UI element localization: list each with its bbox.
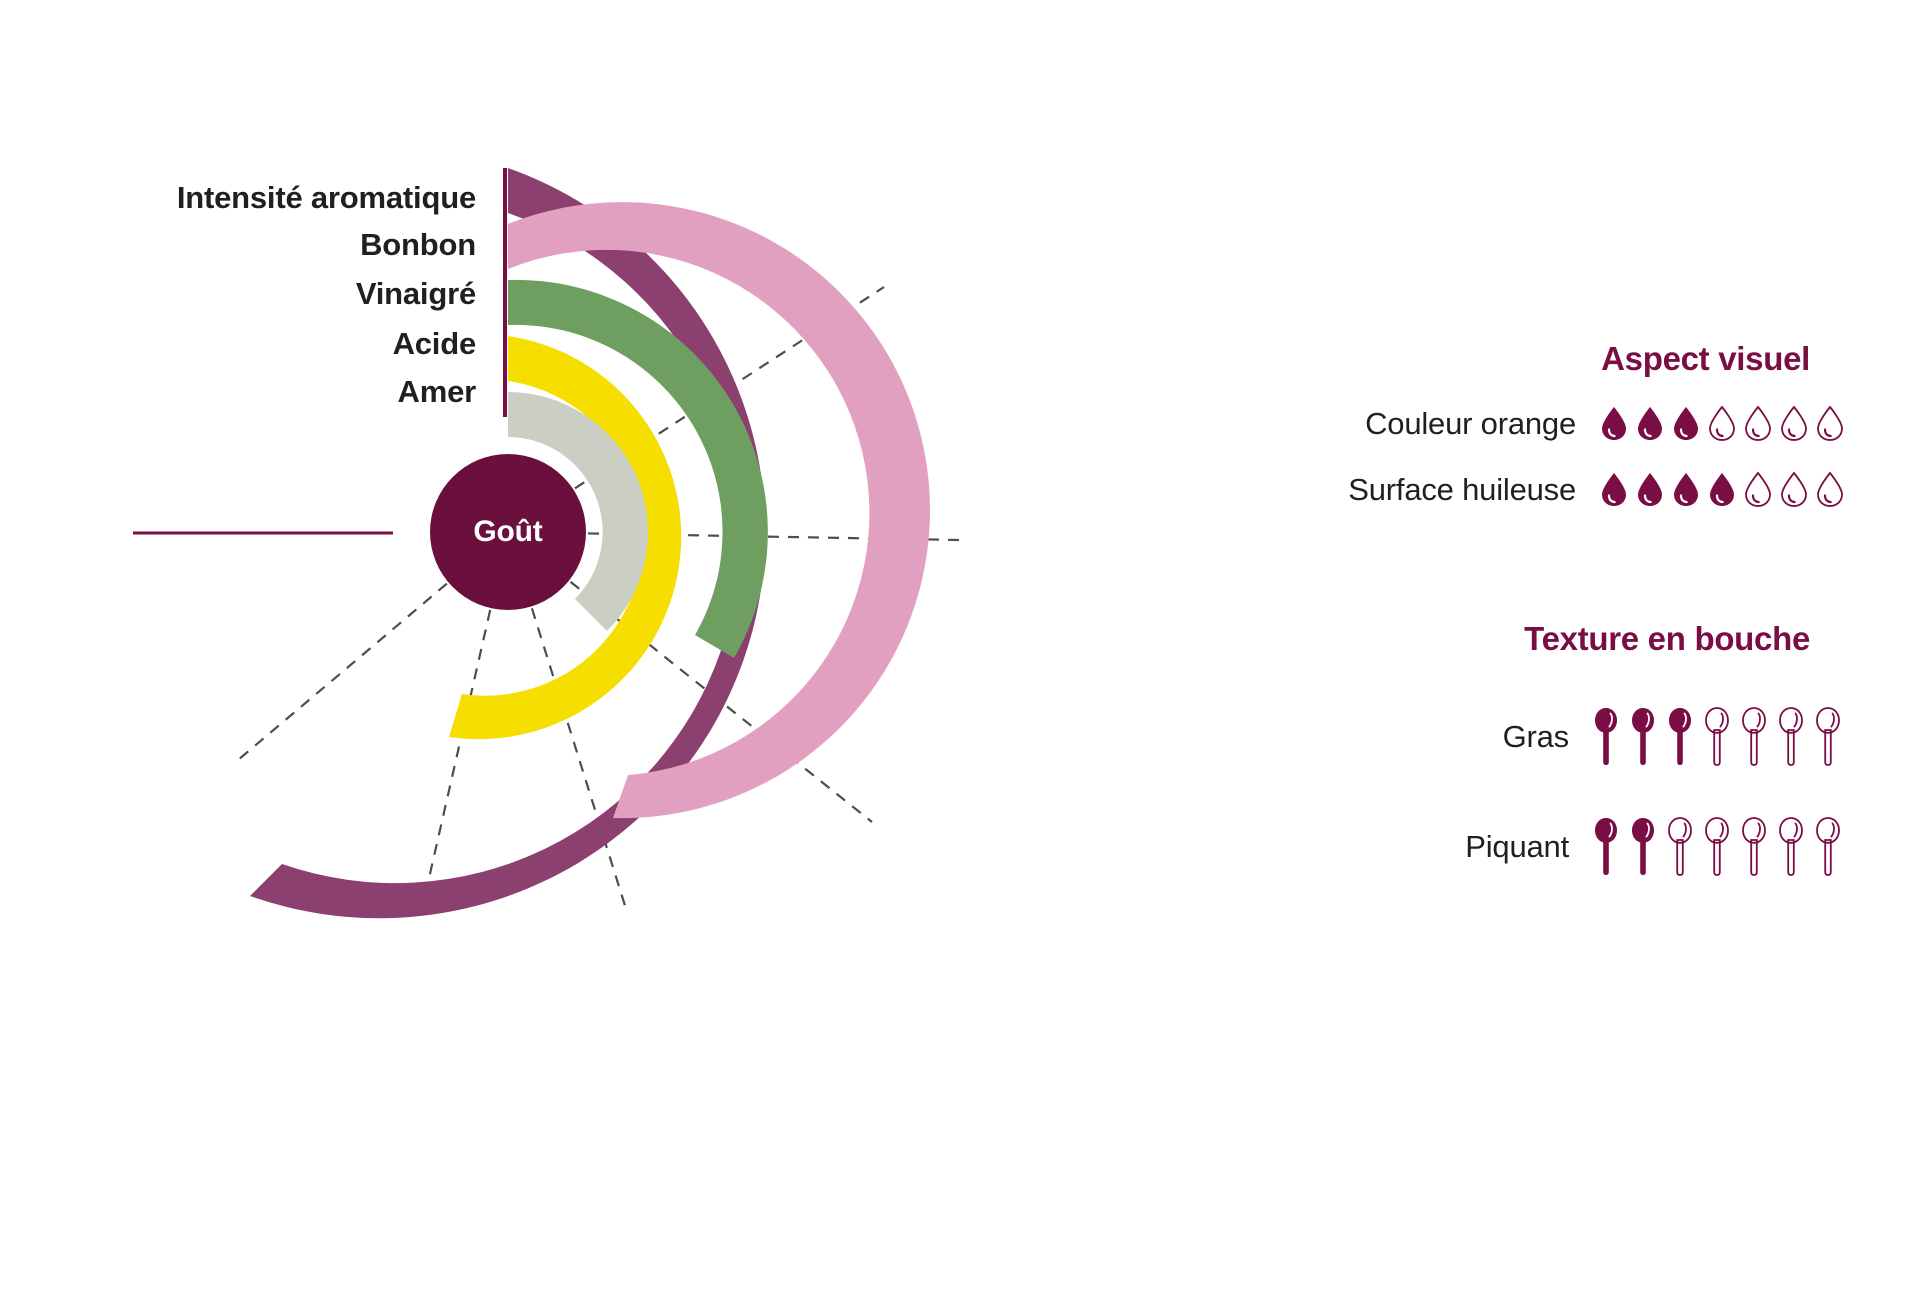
rating-couleur-orange	[1598, 404, 1850, 444]
radial-chart: Intensité aromatique Bonbon Vinaigré Aci…	[0, 0, 1180, 1306]
drop-icon	[1670, 470, 1702, 510]
metric-label-gras: Gras	[1503, 719, 1569, 755]
metric-label-couleur-orange: Couleur orange	[1365, 406, 1576, 442]
drop-icon	[1634, 470, 1666, 510]
drop-icon	[1670, 404, 1702, 444]
drop-icon	[1706, 470, 1738, 510]
drop-icon	[1742, 470, 1774, 510]
axis-label-intensite-aromatique: Intensité aromatique	[177, 180, 476, 216]
spoon-icon	[1813, 706, 1843, 768]
metric-label-piquant: Piquant	[1465, 829, 1569, 865]
spoon-icon	[1628, 816, 1658, 878]
spoon-icon	[1813, 816, 1843, 878]
drop-icon	[1598, 470, 1630, 510]
spoon-icon	[1702, 706, 1732, 768]
drop-icon	[1778, 404, 1810, 444]
metric-row-piquant: Piquant	[1180, 816, 1920, 878]
metric-label-surface-huileuse: Surface huileuse	[1348, 472, 1576, 508]
drop-icon	[1814, 470, 1846, 510]
drop-icon	[1814, 404, 1846, 444]
section-texture-en-bouche: Texture en bouche Gras Piquant	[1180, 620, 1920, 878]
spoon-icon	[1702, 816, 1732, 878]
rating-piquant	[1591, 816, 1850, 878]
section-title-texture-en-bouche: Texture en bouche	[1180, 620, 1920, 658]
spoon-icon	[1665, 816, 1695, 878]
drop-icon	[1598, 404, 1630, 444]
spoon-icon	[1739, 816, 1769, 878]
spoon-icon	[1776, 816, 1806, 878]
drop-icon	[1634, 404, 1666, 444]
drop-icon	[1742, 404, 1774, 444]
spoon-icon	[1739, 706, 1769, 768]
axis-label-acide: Acide	[393, 326, 476, 362]
axis-label-vinaigre: Vinaigré	[356, 276, 476, 312]
rating-gras	[1591, 706, 1850, 768]
side-panel: Aspect visuel Couleur orange Surface hui…	[1180, 0, 1920, 1306]
axis-label-bonbon: Bonbon	[360, 227, 476, 263]
metric-row-gras: Gras	[1180, 706, 1920, 768]
drop-icon	[1778, 470, 1810, 510]
drop-icon	[1706, 404, 1738, 444]
spoon-icon	[1776, 706, 1806, 768]
section-aspect-visuel: Aspect visuel Couleur orange Surface hui…	[1180, 340, 1920, 510]
axis-label-amer: Amer	[398, 374, 476, 410]
metric-row-couleur-orange: Couleur orange	[1180, 404, 1920, 444]
spoon-icon	[1591, 706, 1621, 768]
rating-surface-huileuse	[1598, 470, 1850, 510]
spoon-icon	[1628, 706, 1658, 768]
center-label-gout: Goût	[473, 515, 542, 549]
spoon-icon	[1591, 816, 1621, 878]
spoon-icon	[1665, 706, 1695, 768]
section-title-aspect-visuel: Aspect visuel	[1180, 340, 1920, 378]
metric-row-surface-huileuse: Surface huileuse	[1180, 470, 1920, 510]
